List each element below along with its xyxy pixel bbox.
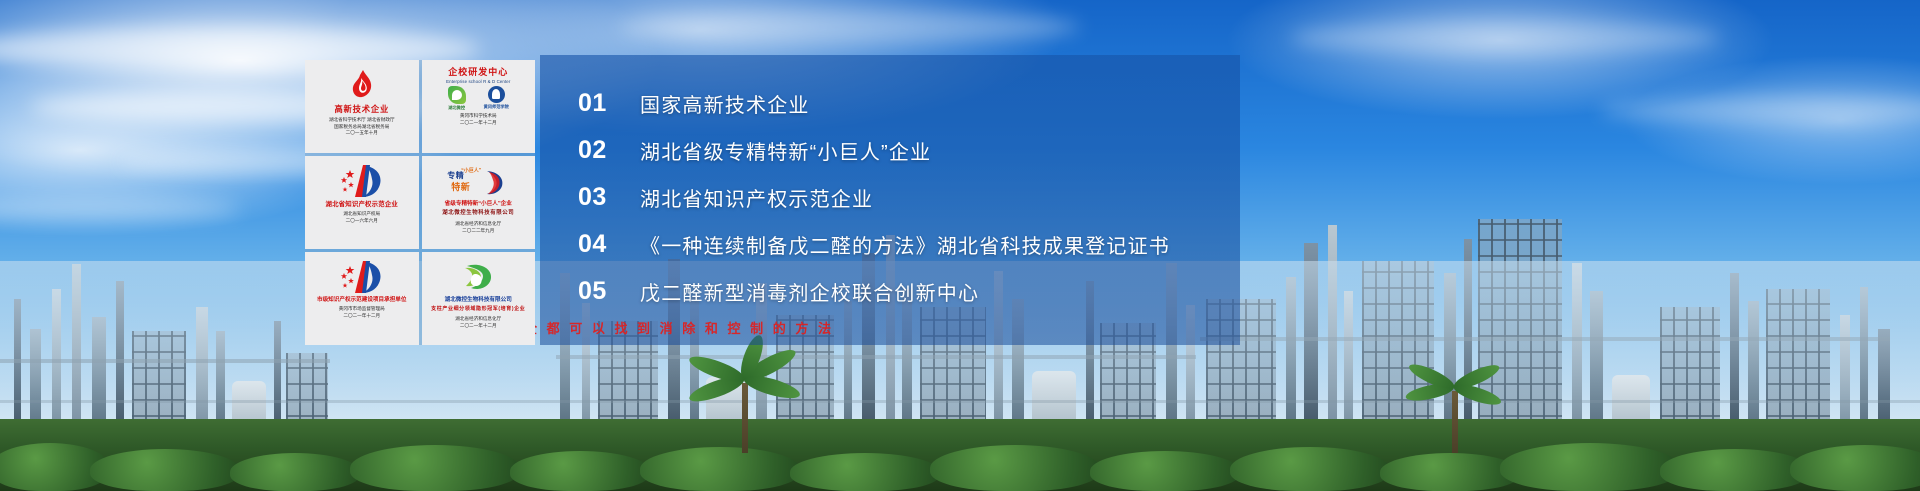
honor-item-number: 05	[578, 277, 640, 306]
bush	[230, 453, 360, 491]
honor-item-number: 01	[578, 89, 640, 118]
honor-list-item[interactable]: 04 《一种连续制备戊二醛的方法》湖北省科技成果登记证书	[578, 221, 1258, 268]
certificate-title: 市级知识产权示范建设项目承担单位	[317, 297, 407, 303]
honor-list: 01 国家高新技术企业 02 湖北省级专精特新“小巨人”企业 03 湖北省知识产…	[578, 80, 1258, 315]
bush	[510, 451, 650, 491]
bush	[1500, 443, 1680, 491]
green-leaf-icon	[448, 86, 466, 104]
certificate-subtitle: 支柱产业细分领域隐形冠军(培育)企业	[431, 306, 525, 313]
certificate-title: 省级专精特新“小巨人”企业	[445, 201, 512, 207]
banner-stage: 01 国家高新技术企业 02 湖北省级专精特新“小巨人”企业 03 湖北省知识产…	[0, 0, 1920, 491]
certificate-title: 高新技术企业	[334, 105, 389, 114]
bush	[790, 453, 940, 491]
honor-list-item[interactable]: 01 国家高新技术企业	[578, 80, 1258, 127]
honor-list-item[interactable]: 03 湖北省知识产权示范企业	[578, 174, 1258, 221]
university-seal-icon	[488, 86, 505, 103]
bush	[1790, 445, 1920, 491]
certificate-date: 二〇二二年九月	[462, 228, 494, 235]
certificate-card-provincial-specialized-little-giant[interactable]: 专精 “小巨人” 特新 省级专精特新“小巨人”企业 湖北微控生物科技有限公司 湖…	[422, 156, 536, 249]
honor-item-label: 戊二醛新型消毒剂企校联合创新中心	[640, 277, 979, 306]
honor-list-item[interactable]: 02 湖北省级专精特新“小巨人”企业	[578, 127, 1258, 174]
honor-item-label: 国家高新技术企业	[640, 89, 810, 118]
blue-red-p-icon	[337, 257, 387, 297]
green-leaf-icon	[461, 257, 495, 297]
certificate-issuer: 黄冈市科学技术局	[460, 113, 497, 120]
certificate-card-hubei-ip-demonstration-enterprise[interactable]: 湖北省知识产权示范企业 湖北省知识产权局 二〇一六年六月	[305, 156, 419, 249]
emblem-text-little-giant: “小巨人”	[461, 167, 481, 174]
certificate-card-pillar-industry-chain-training-enterprise[interactable]: 湖北微控生物科技有限公司 支柱产业细分领域隐形冠军(培育)企业 湖北省经济和信息…	[422, 252, 536, 345]
certificate-issuer: 湖北省经济和信息化厅	[455, 221, 501, 228]
certificate-date: 二〇二一年十二月	[460, 323, 497, 330]
certificate-date: 二〇一六年六月	[346, 218, 378, 225]
certificate-issuer: 湖北省科学技术厅 湖北省财政厅	[329, 117, 395, 124]
certificate-title-en: Enterprise school R & D Center	[446, 79, 510, 84]
honor-item-label: 湖北省知识产权示范企业	[640, 183, 873, 212]
blue-red-p-icon	[337, 161, 387, 201]
bush	[350, 445, 520, 491]
bush	[640, 447, 800, 491]
red-flame-icon	[350, 65, 374, 105]
certificate-subtitle: 湖北微控生物科技有限公司	[442, 210, 514, 218]
cloud-streak	[620, 10, 1080, 44]
certificate-title: 企校研发中心	[448, 68, 508, 78]
certificate-card-city-ip-demonstration-construction-unit[interactable]: 市级知识产权示范建设项目承担单位 黄冈市市场监督管理局 二〇二一年十二月	[305, 252, 419, 345]
bush	[1230, 447, 1390, 491]
bush	[90, 449, 240, 491]
honor-item-number: 04	[578, 230, 640, 259]
honor-item-number: 02	[578, 136, 640, 165]
partner-logos: 湖北微控 黄冈师范学院	[448, 86, 509, 111]
certificate-issuer: 黄冈市市场监督管理局	[339, 306, 385, 313]
bush	[1380, 453, 1520, 491]
certificate-date: 二〇二一年十二月	[460, 120, 497, 127]
certificate-card-enterprise-school-rd-center[interactable]: 企校研发中心 Enterprise school R & D Center 湖北…	[422, 60, 536, 153]
certificate-date: 二〇一五年十月	[346, 130, 378, 137]
certificate-company-name: 湖北微控生物科技有限公司	[445, 297, 512, 303]
certificate-issuer: 湖北省知识产权局	[343, 211, 380, 218]
honor-item-label: 湖北省级专精特新“小巨人”企业	[640, 136, 931, 165]
zhuanjingtexin-icon: 专精 “小巨人” 特新	[447, 161, 509, 201]
palm-tree	[742, 383, 748, 453]
partner-name-left: 湖北微控	[448, 105, 465, 111]
certificate-grid: 高新技术企业 湖北省科学技术厅 湖北省财政厅 国家税务总局湖北省税务局 二〇一五…	[305, 60, 535, 345]
cloud-streak	[1290, 22, 1720, 54]
certificate-title: 湖北省知识产权示范企业	[326, 201, 399, 208]
palm-tree	[1452, 391, 1458, 453]
bush	[930, 445, 1100, 491]
certificate-date: 二〇二一年十二月	[343, 313, 380, 320]
honor-list-item[interactable]: 05 戊二醛新型消毒剂企校联合创新中心	[578, 268, 1258, 315]
certificate-card-high-tech-enterprise[interactable]: 高新技术企业 湖北省科学技术厅 湖北省财政厅 国家税务总局湖北省税务局 二〇一五…	[305, 60, 419, 153]
honor-item-label: 《一种连续制备戊二醛的方法》湖北省科技成果登记证书	[640, 230, 1170, 259]
emblem-text-texin: 特新	[451, 180, 470, 193]
honor-item-number: 03	[578, 183, 640, 212]
partner-name-right: 黄冈师范学院	[484, 104, 509, 110]
slogan-text: 全 都 可 以 找 到 消 除 和 控 制 的 方 法	[524, 316, 954, 338]
bush	[1660, 449, 1810, 491]
bush	[1090, 451, 1240, 491]
